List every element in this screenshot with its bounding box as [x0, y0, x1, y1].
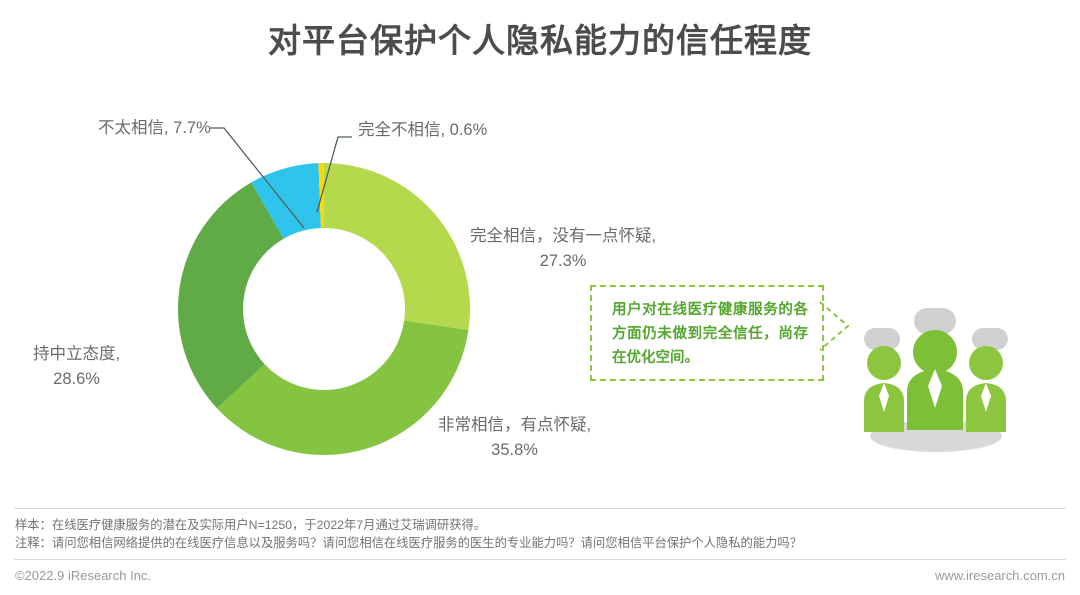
slice-label-zhongli: 持中立态度, 28.6%: [33, 342, 120, 392]
donut-chart: [178, 163, 470, 455]
copyright-text: ©2022.9 iResearch Inc.: [15, 568, 151, 583]
slice-label-wanquanxiangxin-value: 27.3%: [470, 249, 656, 274]
footnote-divider-top: [14, 508, 1066, 509]
footer-divider: [14, 559, 1066, 560]
slice-label-wanquanxiangxin: 完全相信，没有一点怀疑, 27.3%: [470, 224, 656, 274]
person-right-icon: [966, 346, 1006, 432]
slice-label-butaixiangxin: 不太相信, 7.7%: [98, 116, 211, 141]
slice-label-feichangxiangxin: 非常相信，有点怀疑, 35.8%: [438, 413, 591, 463]
people-illustration-icon: [852, 300, 1020, 452]
person-center-icon: [907, 330, 963, 430]
donut-slice: [324, 163, 470, 330]
slice-label-zhongli-value: 28.6%: [33, 367, 120, 392]
slice-label-wanquanbuxiangxin: 完全不相信, 0.6%: [358, 118, 487, 143]
footnote-note: 注释：请问您相信网络提供的在线医疗信息以及服务吗？请问您相信在线医疗服务的医生的…: [15, 533, 802, 551]
slice-label-feichangxiangxin-value: 35.8%: [438, 438, 591, 463]
person-left-icon: [864, 346, 904, 432]
leader-lines: [0, 0, 1080, 595]
insight-callout-box: 用户对在线医疗健康服务的各方面仍未做到完全信任，尚存在优化空间。: [590, 285, 824, 381]
donut-chart-svg: [178, 163, 470, 455]
slice-label-zhongli-name: 持中立态度,: [33, 345, 120, 363]
slice-label-wanquanxiangxin-name: 完全相信，没有一点怀疑,: [470, 227, 656, 245]
page-title: 对平台保护个人隐私能力的信任程度: [0, 14, 1080, 62]
slide-canvas: 对平台保护个人隐私能力的信任程度 不太相信, 7.7% 完全不相信, 0.6% …: [0, 0, 1080, 595]
website-text: www.iresearch.com.cn: [935, 568, 1065, 583]
callout-arrow-path: [820, 302, 848, 350]
slice-label-feichangxiangxin-name: 非常相信，有点怀疑,: [438, 416, 591, 434]
footnote-sample: 样本：在线医疗健康服务的潜在及实际用户N=1250，于2022年7月通过艾瑞调研…: [15, 515, 486, 533]
insight-callout-text: 用户对在线医疗健康服务的各方面仍未做到完全信任，尚存在优化空间。: [612, 298, 808, 370]
donut-slice: [217, 321, 469, 455]
